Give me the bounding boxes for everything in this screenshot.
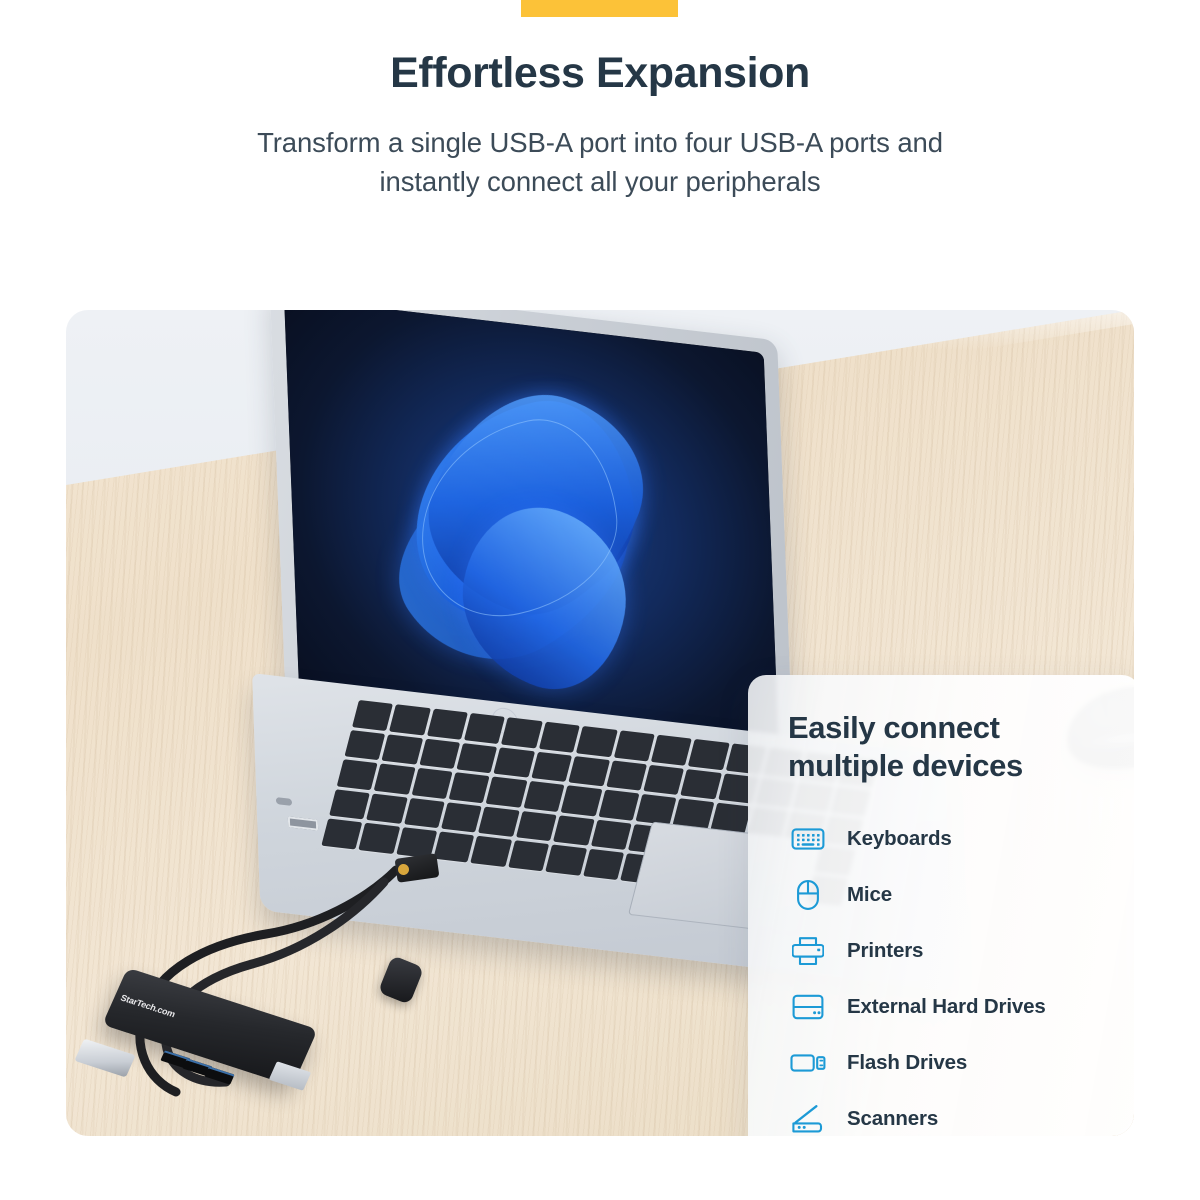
- flash-drive-icon: [790, 1046, 826, 1080]
- card-title-line-1: Easily connect: [788, 709, 1114, 747]
- supported-devices-list: Keyboards Mice: [790, 811, 1114, 1136]
- subtitle-line-2: instantly connect all your peripherals: [0, 162, 1200, 201]
- list-item-label: Mice: [847, 883, 892, 907]
- header: Effortless Expansion Transform a single …: [0, 50, 1200, 201]
- list-item-label: Printers: [847, 939, 923, 963]
- subtitle-line-1: Transform a single USB-A port into four …: [0, 123, 1200, 162]
- list-item-flash-drives: Flash Drives: [790, 1035, 1114, 1091]
- card-title-line-2: multiple devices: [788, 747, 1114, 785]
- list-item-label: Flash Drives: [847, 1051, 967, 1075]
- top-accent-bar: [521, 0, 678, 17]
- list-item-label: External Hard Drives: [847, 995, 1046, 1019]
- list-item-keyboards: Keyboards: [790, 811, 1114, 867]
- printer-icon: [790, 934, 826, 968]
- hard-drive-icon: [790, 990, 826, 1024]
- feature-card-title: Easily connect multiple devices: [788, 709, 1114, 784]
- mouse-icon: [790, 878, 826, 912]
- scanner-icon: [790, 1102, 826, 1136]
- list-item-external-hard-drives: External Hard Drives: [790, 979, 1114, 1035]
- list-item-label: Keyboards: [847, 827, 952, 851]
- page-subtitle: Transform a single USB-A port into four …: [0, 123, 1200, 201]
- easily-connect-card: Easily connect multiple devices: [748, 675, 1134, 1136]
- list-item-scanners: Scanners: [790, 1091, 1114, 1136]
- list-item-printers: Printers: [790, 923, 1114, 979]
- list-item-label: Scanners: [847, 1107, 938, 1131]
- keyboard-icon: [790, 822, 826, 856]
- page-title: Effortless Expansion: [0, 50, 1200, 97]
- product-photo-scene: hp StarTech.com: [66, 310, 1134, 1136]
- list-item-mice: Mice: [790, 867, 1114, 923]
